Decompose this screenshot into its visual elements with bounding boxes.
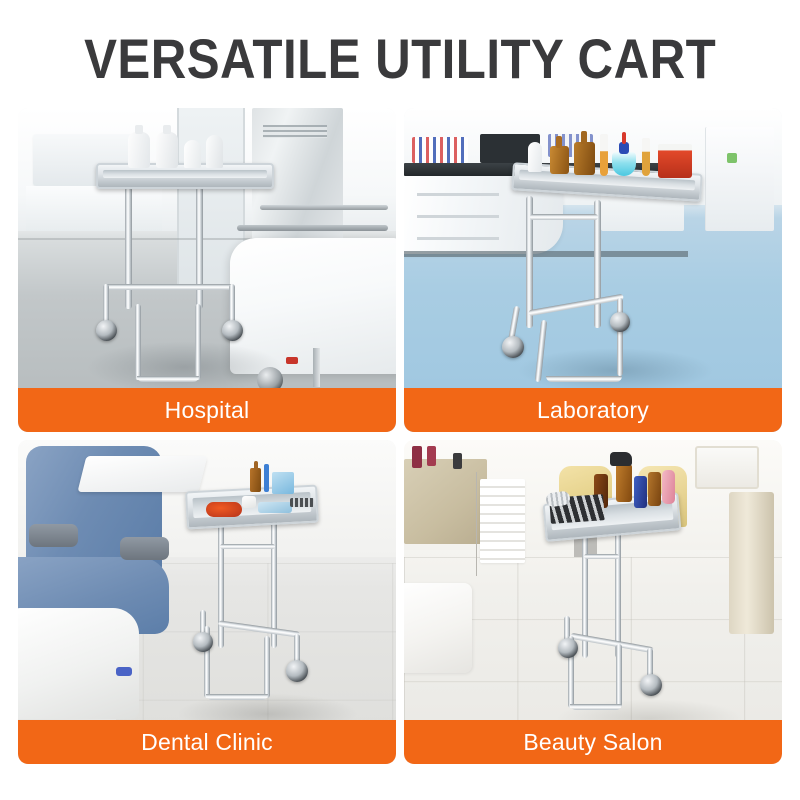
panel-hospital[interactable]: Hospital [18, 108, 396, 432]
cart-caster-right-dental [286, 660, 308, 682]
salon-spray-bottle-amber [616, 464, 632, 502]
salon-spray-trigger-black [610, 452, 632, 466]
lab-test-tube-amber [642, 138, 650, 176]
cart-post-left-hospital [125, 187, 132, 309]
scene-laboratory [404, 108, 782, 432]
lab-vial-rack-left [412, 137, 469, 163]
lab-test-tube-orange [600, 134, 608, 176]
dental-chair-armrest-left [29, 524, 78, 547]
cart-post-right-salon [615, 528, 621, 658]
cart-caster-left-laboratory [502, 336, 524, 358]
salon-mirror [695, 446, 759, 489]
hospital-bed-rail [237, 225, 388, 231]
hospital-bed-rail-upper [260, 205, 389, 210]
dental-bottle-amber-neck [254, 461, 258, 470]
salon-column [729, 492, 774, 635]
caption-label-dental-clinic: Dental Clinic [141, 729, 273, 756]
dental-tray-instruments-dark [290, 498, 314, 507]
lab-beaker-red [658, 144, 692, 178]
cart-u-base-foot-hospital [137, 376, 199, 382]
cart-u-base-right-dental [264, 636, 270, 698]
dental-supply-box-blue [272, 472, 294, 494]
cart-tray-surface [103, 170, 267, 178]
cart-u-base-foot-salon [570, 704, 622, 710]
cart-caster-right-laboratory [610, 312, 630, 332]
salon-retail-counter [404, 459, 487, 543]
scene-beauty-salon [404, 440, 782, 764]
dental-chair-armrest-right [120, 537, 169, 560]
lab-cart-shadow [517, 348, 714, 393]
salon-towel-rack [476, 472, 477, 576]
cart-post-left-dental [218, 524, 224, 648]
cart-caster-left-hospital [96, 320, 117, 341]
panel-beauty-salon[interactable]: Beauty Salon [404, 440, 782, 764]
scenario-grid: Hospital [18, 108, 782, 762]
cart-caster-right-hospital [222, 320, 243, 341]
caption-label-hospital: Hospital [165, 397, 250, 424]
hospital-bed-leg [313, 348, 320, 387]
cart-u-base-left-hospital [135, 304, 141, 380]
lab-amber-bottle-2 [574, 142, 595, 175]
lab-flask-cyan [612, 152, 636, 176]
dental-tray-gauze-blue [258, 502, 292, 513]
hospital-wall-panel-lower [26, 186, 162, 231]
lab-cabinet-right [705, 127, 774, 231]
salon-product-bottle-3 [453, 453, 462, 469]
salon-product-bottle-1 [412, 446, 422, 468]
scene-hospital [18, 108, 396, 432]
caption-label-laboratory: Laboratory [537, 397, 649, 424]
salon-folded-towels [480, 479, 525, 563]
cart-caster-right-salon [640, 674, 662, 696]
dental-tray-cup-white [242, 496, 256, 508]
panel-dental-clinic[interactable]: Dental Clinic [18, 440, 396, 764]
cart-crossbar-hospital [104, 284, 234, 290]
dental-chair-lower-shell [18, 608, 139, 718]
hospital-bottle-1 [128, 132, 150, 168]
product-feature-poster: VERSATILE UTILITY CART [0, 0, 800, 800]
cart-u-base-right-salon [616, 644, 622, 708]
salon-bottle-blue [634, 476, 647, 508]
hospital-cart-shadow [86, 341, 283, 393]
dental-chair-headrest-tray [78, 456, 208, 492]
dental-tray-items-orange [206, 502, 242, 517]
caption-bar-laboratory: Laboratory [404, 388, 782, 432]
salon-bottle-amber-2 [648, 472, 661, 506]
cart-caster-left-dental [193, 632, 213, 652]
cart-u-base-right-hospital [195, 304, 201, 380]
lab-safety-sign-icon [727, 153, 737, 163]
caption-bar-dental-clinic: Dental Clinic [18, 720, 396, 764]
caption-bar-hospital: Hospital [18, 388, 396, 432]
cart-post-right-hospital [196, 187, 203, 309]
title-container: VERSATILE UTILITY CART [0, 28, 800, 90]
cart-crossbar-salon [584, 554, 619, 559]
cart-lower-crossbar-laboratory [528, 294, 624, 317]
lab-amber-bottle-1 [550, 146, 569, 174]
salon-product-bottle-2 [427, 446, 436, 466]
caption-bar-beauty-salon: Beauty Salon [404, 720, 782, 764]
cart-crossbar-dental [220, 544, 275, 549]
cart-caster-left-salon [558, 638, 578, 658]
hospital-bottle-2-neck [163, 125, 171, 134]
dental-instrument-blue [264, 464, 269, 492]
salon-waiting-sofa [404, 583, 472, 674]
lab-flask-rod-red [622, 132, 626, 144]
hospital-bottle-2 [156, 132, 178, 168]
dental-chair-foot-control [116, 667, 132, 676]
caption-label-beauty-salon: Beauty Salon [523, 729, 662, 756]
hospital-bottle-3 [184, 140, 201, 168]
lab-baseboard [404, 251, 688, 257]
cart-u-base-foot-laboratory [546, 376, 622, 382]
dental-bottle-amber [250, 468, 261, 492]
salon-bottle-pink [662, 470, 675, 504]
hospital-bottle-1-neck [135, 125, 143, 134]
lab-amber-bottle-2-neck [581, 131, 587, 144]
lab-amber-bottle-1-neck [556, 136, 562, 148]
lab-dropper-bottle-white [528, 142, 542, 172]
cart-crossbar-laboratory [530, 214, 598, 220]
page-title: VERSATILE UTILITY CART [84, 31, 716, 87]
scene-dental-clinic [18, 440, 396, 764]
hospital-bottle-4 [206, 135, 223, 168]
cart-u-base-foot-dental [206, 694, 268, 700]
panel-laboratory[interactable]: Laboratory [404, 108, 782, 432]
hospital-bed-brake-tag [286, 357, 298, 364]
